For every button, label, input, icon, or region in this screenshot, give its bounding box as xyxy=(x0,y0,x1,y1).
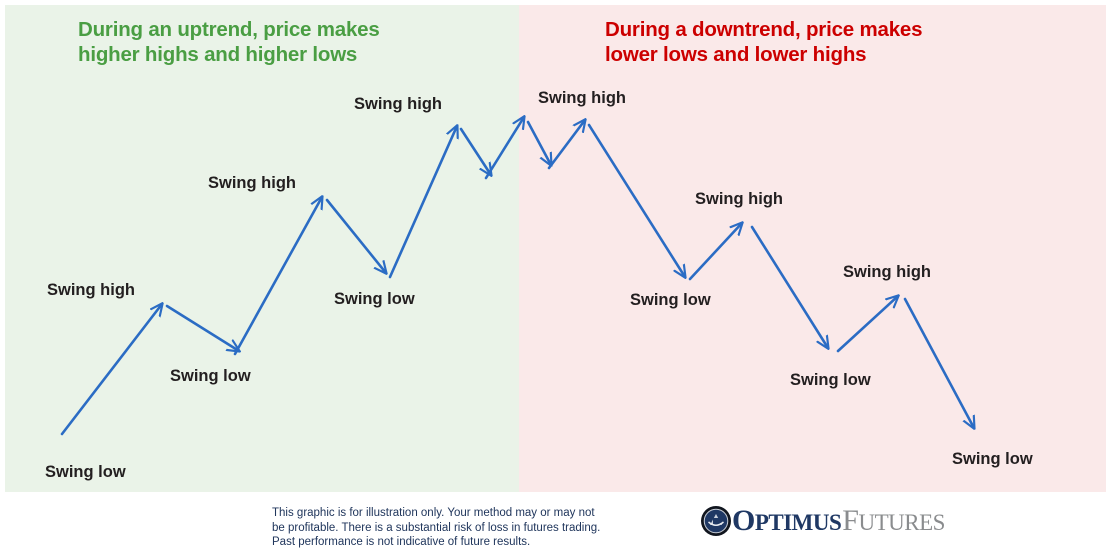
logo-word-futures: FUTURES xyxy=(842,506,945,536)
swing-label-swing-high-4: Swing high xyxy=(538,90,626,107)
downtrend-panel xyxy=(519,5,1106,492)
swing-label-swing-low-2: Swing low xyxy=(170,368,251,385)
swing-label-swing-low-6: Swing low xyxy=(952,451,1033,468)
logo-word-futures-tail: UTURES xyxy=(858,510,944,535)
infographic-canvas: During an uptrend, price makes higher hi… xyxy=(0,0,1111,560)
swing-label-swing-high-6: Swing high xyxy=(843,264,931,281)
swing-label-swing-high-5: Swing high xyxy=(695,191,783,208)
swing-label-swing-low-1: Swing low xyxy=(45,464,126,481)
downtrend-title: During a downtrend, price makes lower lo… xyxy=(605,17,922,67)
logo-word-optimus-tail: PTIMUS xyxy=(755,510,841,535)
footer-bar: This graphic is for illustration only. Y… xyxy=(0,492,1111,560)
swing-label-swing-low-4: Swing low xyxy=(630,292,711,309)
swing-label-swing-high-3: Swing high xyxy=(354,96,442,113)
swing-label-swing-low-5: Swing low xyxy=(790,372,871,389)
swing-label-swing-high-1: Swing high xyxy=(47,282,135,299)
disclaimer-text: This graphic is for illustration only. Y… xyxy=(272,506,602,550)
logo-word-optimus: OPTIMUS xyxy=(732,506,841,536)
optimus-futures-logo: OPTIMUS FUTURES xyxy=(700,503,945,539)
uptrend-panel xyxy=(5,5,519,492)
swing-label-swing-low-3: Swing low xyxy=(334,291,415,308)
optimus-circle-emblem-icon xyxy=(700,505,732,537)
uptrend-title: During an uptrend, price makes higher hi… xyxy=(78,17,380,67)
swing-label-swing-high-2: Swing high xyxy=(208,175,296,192)
